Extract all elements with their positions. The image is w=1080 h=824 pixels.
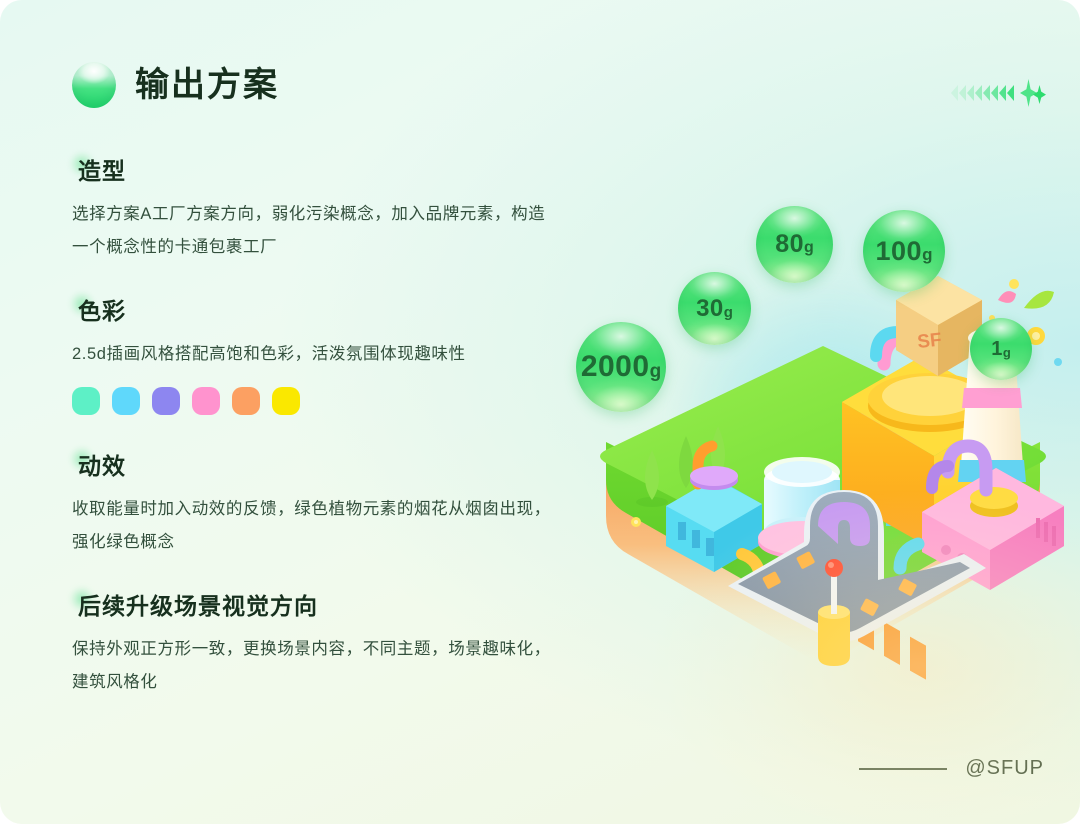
section-color: 色彩 2.5d插画风格搭配高饱和色彩，活泼氛围体现趣味性 xyxy=(72,290,572,415)
color-swatch-sky[interactable] xyxy=(112,387,140,415)
section-future: 后续升级场景视觉方向 保持外观正方形一致，更换场景内容，不同主题，场景趣味化，建… xyxy=(72,585,572,699)
illustration-area: SF xyxy=(566,150,1080,750)
page-title: 输出方案 xyxy=(135,68,279,102)
color-swatch-pink[interactable] xyxy=(192,387,220,415)
color-swatch-orange[interactable] xyxy=(232,387,260,415)
energy-bubble[interactable]: 1g xyxy=(970,318,1032,380)
section-heading: 后续升级场景视觉方向 xyxy=(72,585,320,623)
color-swatch-yellow[interactable] xyxy=(272,387,300,415)
color-swatch-periwinkle[interactable] xyxy=(152,387,180,415)
bubble-unit: g xyxy=(650,362,662,381)
bubble-unit: g xyxy=(724,305,733,320)
section-body: 2.5d插画风格搭配高饱和色彩，活泼氛围体现趣味性 xyxy=(72,338,562,371)
section-heading: 造型 xyxy=(72,150,128,188)
sparkle-icon xyxy=(1020,79,1046,107)
color-palette xyxy=(72,387,572,415)
bubble-unit: g xyxy=(1003,346,1011,359)
svg-text:SF: SF xyxy=(916,330,942,353)
bubble-value: 1 xyxy=(991,339,1003,359)
gradient-sphere-icon xyxy=(72,62,116,108)
section-heading: 动效 xyxy=(72,445,128,483)
bubble-value: 2000 xyxy=(581,352,650,382)
slide-header: 输出方案 xyxy=(72,62,279,108)
energy-bubble[interactable]: 100g xyxy=(863,210,945,292)
slide-footer: @SFUP xyxy=(859,757,1044,780)
bubble-value: 100 xyxy=(876,238,923,265)
section-body: 选择方案A工厂方案方向，弱化污染概念，加入品牌元素，构造一个概念性的卡通包裹工厂 xyxy=(72,198,562,264)
content-column: 造型 选择方案A工厂方案方向，弱化污染概念，加入品牌元素，构造一个概念性的卡通包… xyxy=(72,150,572,709)
bubble-value: 80 xyxy=(775,232,804,257)
section-xingzhi: 造型 选择方案A工厂方案方向，弱化污染概念，加入品牌元素，构造一个概念性的卡通包… xyxy=(72,150,572,264)
chevron-trail-icon xyxy=(951,85,1014,101)
energy-bubble[interactable]: 80g xyxy=(756,206,833,283)
bubble-value: 30 xyxy=(696,297,724,321)
header-decoration xyxy=(951,76,1046,110)
energy-bubble[interactable]: 30g xyxy=(678,272,751,345)
slide-canvas: 输出方案 造型 选择方案A工厂方案方向，弱化污染概念，加入 xyxy=(0,0,1080,824)
bubble-unit: g xyxy=(922,246,932,263)
author-handle: @SFUP xyxy=(965,757,1044,780)
section-heading: 色彩 xyxy=(72,290,128,328)
section-motion: 动效 收取能量时加入动效的反馈，绿色植物元素的烟花从烟囱出现，强化绿色概念 xyxy=(72,445,572,559)
section-body: 收取能量时加入动效的反馈，绿色植物元素的烟花从烟囱出现，强化绿色概念 xyxy=(72,493,562,559)
color-swatch-mint[interactable] xyxy=(72,387,100,415)
bubble-unit: g xyxy=(804,240,814,256)
footer-divider xyxy=(859,768,947,770)
section-body: 保持外观正方形一致，更换场景内容，不同主题，场景趣味化，建筑风格化 xyxy=(72,633,562,699)
energy-bubble[interactable]: 2000g xyxy=(576,322,666,412)
